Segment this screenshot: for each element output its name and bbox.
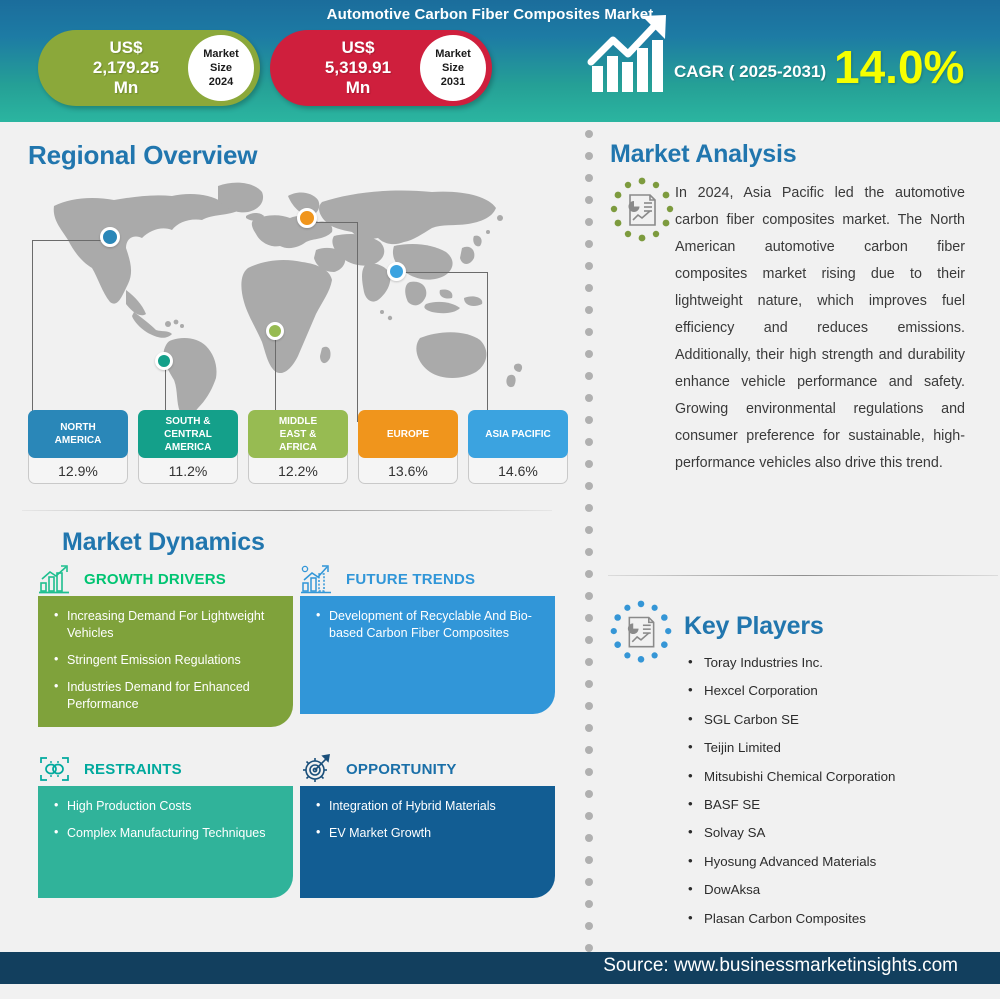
list-item: SGL Carbon SE <box>684 711 994 729</box>
source-text: Source: www.businessmarketinsights.com <box>603 955 958 977</box>
list-item: Stringent Emission Regulations <box>54 652 279 669</box>
leader-line-europe-v <box>357 222 358 422</box>
chain-link-icon <box>38 754 72 784</box>
key-players-list: Toray Industries Inc. Hexcel Corporation… <box>684 654 994 938</box>
market-size-2031-badge: Market Size 2031 <box>420 35 486 101</box>
report-document-icon <box>606 600 676 670</box>
map-dot-north-america <box>100 227 120 247</box>
market-size-2024-badge: Market Size 2024 <box>188 35 254 101</box>
future-trends-block: FUTURE TRENDS Development of Recyclable … <box>300 562 555 714</box>
value-2024: 2,179.25 <box>93 58 159 78</box>
map-dot-asia-pacific <box>387 262 406 281</box>
market-analysis-title: Market Analysis <box>610 140 796 169</box>
market-size-2024-pill: US$ 2,179.25 Mn Market Size 2024 <box>38 30 260 106</box>
leader-line-north-america-v <box>32 240 33 422</box>
list-item: Hyosung Advanced Materials <box>684 853 994 871</box>
gear-target-icon <box>300 754 334 784</box>
list-item: Industries Demand for Enhanced Performan… <box>54 679 279 713</box>
list-item: Development of Recyclable And Bio-based … <box>316 608 541 642</box>
report-document-icon <box>606 177 678 249</box>
opportunity-header: OPPORTUNITY <box>300 752 555 786</box>
list-item: Hexcel Corporation <box>684 682 994 700</box>
vertical-dotted-divider <box>585 130 595 948</box>
right-column: Market Analysis In 2024, Asia Pacific le… <box>600 122 1000 952</box>
trend-chart-icon <box>300 564 334 594</box>
market-size-2031-value: US$ 5,319.91 Mn <box>288 30 428 106</box>
region-card-south-central-america[interactable]: SOUTH &CENTRALAMERICA 11.2% <box>138 410 238 488</box>
region-card-middle-east-africa[interactable]: MIDDLEEAST &AFRICA 12.2% <box>248 410 348 488</box>
value-2031: 5,319.91 <box>325 58 391 78</box>
list-item: Complex Manufacturing Techniques <box>54 825 279 842</box>
growth-drivers-block: GROWTH DRIVERS Increasing Demand For Lig… <box>38 562 293 727</box>
region-label: EUROPE <box>358 410 458 458</box>
list-item: Increasing Demand For Lightweight Vehicl… <box>54 608 279 642</box>
region-label: MIDDLEEAST &AFRICA <box>248 410 348 458</box>
list-item: High Production Costs <box>54 798 279 815</box>
market-analysis-text: In 2024, Asia Pacific led the automotive… <box>675 180 965 477</box>
opportunity-block: OPPORTUNITY Integration of Hybrid Materi… <box>300 752 555 898</box>
region-card-north-america[interactable]: NORTHAMERICA 12.9% <box>28 410 128 488</box>
restraints-block: RESTRAINTS High Production Costs Complex… <box>38 752 293 898</box>
left-column: Regional Overview <box>0 122 580 952</box>
list-item: Toray Industries Inc. <box>684 654 994 672</box>
market-size-2031-pill: US$ 5,319.91 Mn Market Size 2031 <box>270 30 492 106</box>
key-players-title: Key Players <box>684 612 824 641</box>
region-label: SOUTH &CENTRALAMERICA <box>138 410 238 458</box>
unit-2031: Mn <box>346 78 371 98</box>
list-item: EV Market Growth <box>316 825 541 842</box>
growth-arrow-chart-icon <box>586 14 676 96</box>
world-map-svg <box>22 172 567 422</box>
list-item: Solvay SA <box>684 824 994 842</box>
regional-overview-title: Regional Overview <box>28 140 257 171</box>
opportunity-label: OPPORTUNITY <box>346 761 457 778</box>
leader-line-asia-pacific-v <box>487 272 488 422</box>
currency-2031: US$ <box>341 38 374 58</box>
growth-drivers-header: GROWTH DRIVERS <box>38 562 293 596</box>
restraints-header: RESTRAINTS <box>38 752 293 786</box>
cagr-value: 14.0% <box>834 40 964 94</box>
map-dot-middle-east-africa <box>266 322 284 340</box>
leader-line-asia-pacific-h <box>397 272 487 273</box>
region-cards: NORTHAMERICA 12.9% SOUTH &CENTRALAMERICA… <box>28 410 568 488</box>
region-card-europe[interactable]: EUROPE 13.6% <box>358 410 458 488</box>
list-item: Teijin Limited <box>684 739 994 757</box>
growth-drivers-label: GROWTH DRIVERS <box>84 571 226 588</box>
list-item: Integration of Hybrid Materials <box>316 798 541 815</box>
growth-chart-icon <box>38 564 72 594</box>
section-divider <box>22 510 552 511</box>
region-card-asia-pacific[interactable]: ASIA PACIFIC 14.6% <box>468 410 568 488</box>
header-banner: Automotive Carbon Fiber Composites Marke… <box>0 0 1000 122</box>
world-map <box>22 172 567 422</box>
region-label: NORTHAMERICA <box>28 410 128 458</box>
map-dot-europe <box>297 208 317 228</box>
cagr-group: CAGR ( 2025-2031) 14.0% <box>586 14 986 114</box>
list-item: Mitsubishi Chemical Corporation <box>684 768 994 786</box>
map-dot-south-america <box>155 352 173 370</box>
list-item: BASF SE <box>684 796 994 814</box>
list-item: DowAksa <box>684 881 994 899</box>
market-size-2024-value: US$ 2,179.25 Mn <box>56 30 196 106</box>
currency-2024: US$ <box>109 38 142 58</box>
future-trends-body: Development of Recyclable And Bio-based … <box>300 596 555 714</box>
unit-2024: Mn <box>114 78 139 98</box>
market-dynamics-title: Market Dynamics <box>62 528 265 557</box>
future-trends-label: FUTURE TRENDS <box>346 571 475 588</box>
list-item: Plasan Carbon Composites <box>684 910 994 928</box>
opportunity-body: Integration of Hybrid Materials EV Marke… <box>300 786 555 898</box>
section-divider <box>608 575 998 576</box>
cagr-label: CAGR ( 2025-2031) <box>674 62 826 82</box>
footer-bar: Source: www.businessmarketinsights.com <box>0 952 1000 984</box>
growth-drivers-body: Increasing Demand For Lightweight Vehicl… <box>38 596 293 727</box>
restraints-label: RESTRAINTS <box>84 761 182 778</box>
restraints-body: High Production Costs Complex Manufactur… <box>38 786 293 898</box>
future-trends-header: FUTURE TRENDS <box>300 562 555 596</box>
region-label: ASIA PACIFIC <box>468 410 568 458</box>
